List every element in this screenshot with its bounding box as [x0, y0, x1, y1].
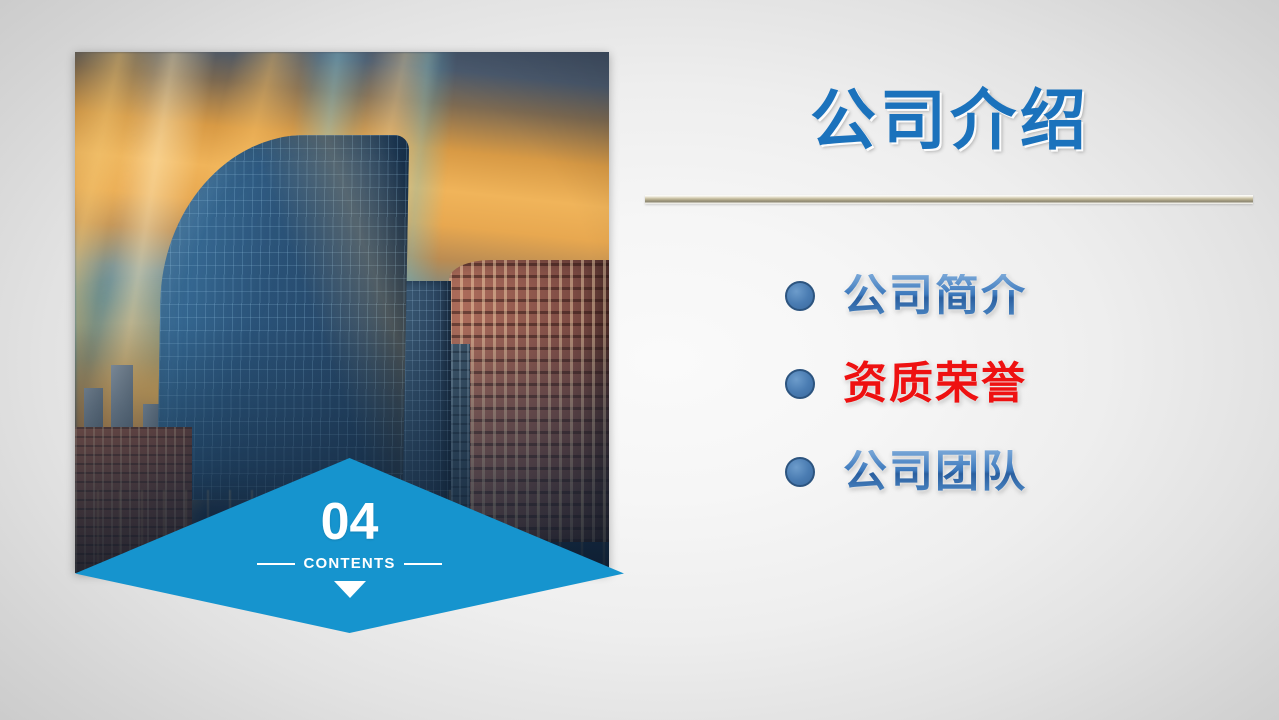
agenda-item-company-profile[interactable]: 公司简介 [785, 252, 1255, 340]
bullet-dot-icon [785, 457, 815, 487]
agenda-item-label: 公司简介 [843, 274, 1027, 318]
presentation-slide: 04 CONTENTS 公司介绍 公司简介 资质荣誉 公司团队 [0, 0, 1279, 720]
title-divider [645, 195, 1253, 204]
agenda-item-qualifications-honors[interactable]: 资质荣誉 [785, 340, 1255, 428]
photo-vignette [75, 52, 609, 573]
agenda-item-company-team[interactable]: 公司团队 [785, 428, 1255, 516]
bullet-dot-icon [785, 281, 815, 311]
city-skyline-image [75, 52, 609, 573]
agenda-item-label: 公司团队 [843, 450, 1027, 494]
agenda-item-label: 资质荣誉 [843, 362, 1027, 406]
slide-content-column: 公司介绍 公司简介 资质荣誉 公司团队 [645, 60, 1255, 516]
bullet-dot-icon [785, 369, 815, 399]
agenda-list: 公司简介 资质荣誉 公司团队 [645, 252, 1255, 516]
slide-title: 公司介绍 [645, 86, 1255, 155]
caret-down-icon [334, 581, 366, 598]
